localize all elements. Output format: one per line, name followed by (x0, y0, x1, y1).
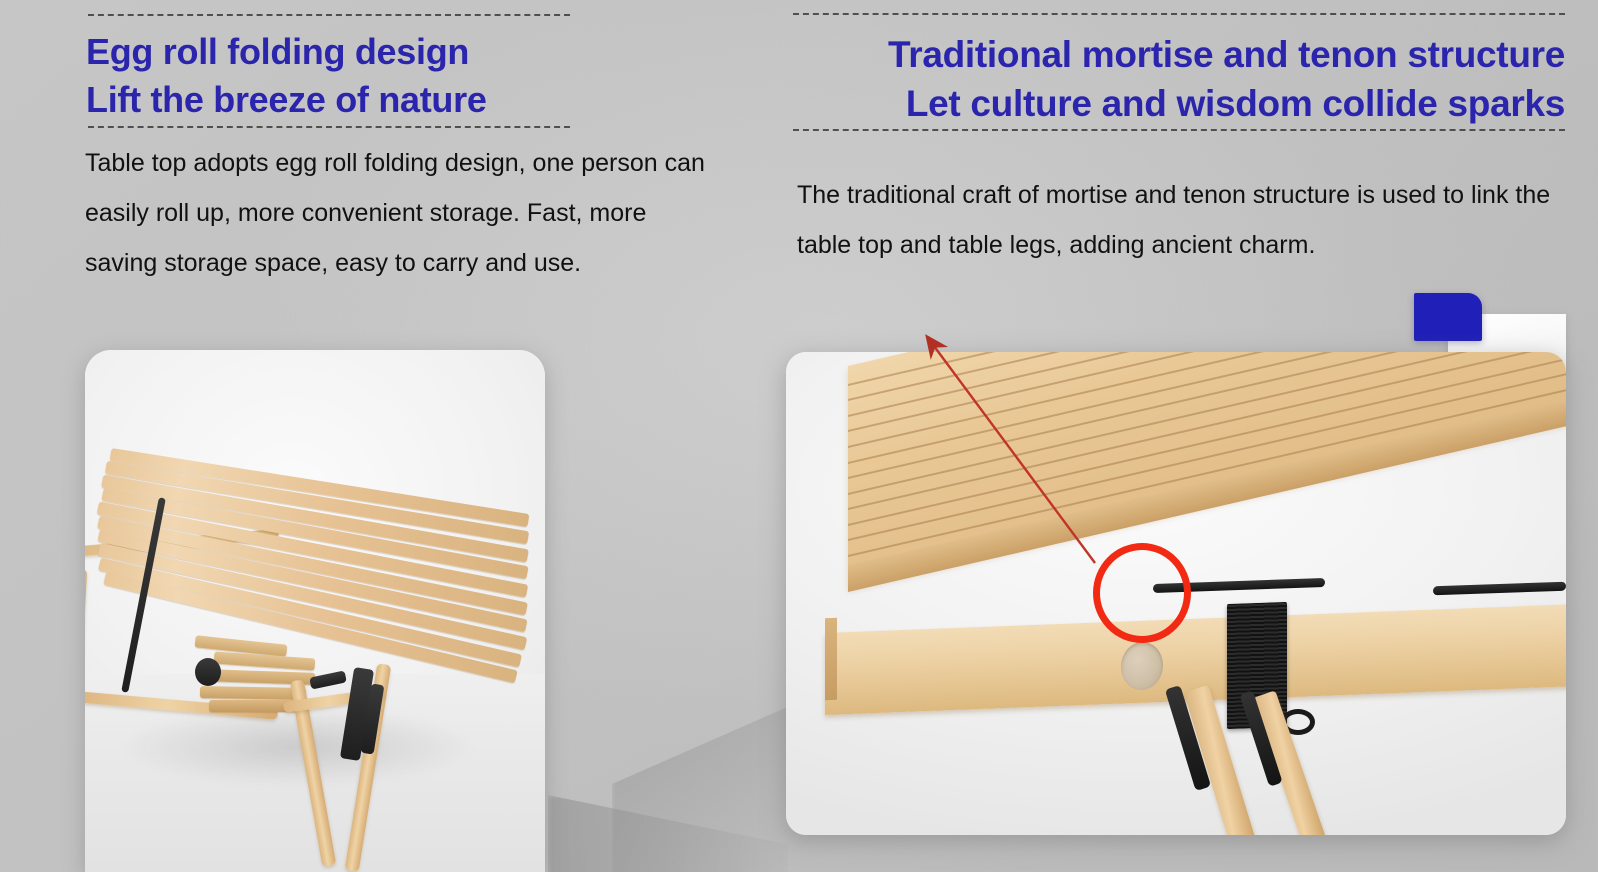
left-divider-top (88, 14, 570, 16)
blue-corner-tab (1414, 293, 1482, 341)
right-heading: Traditional mortise and tenon structure … (793, 30, 1565, 128)
slide-root: Egg roll folding design Lift the breeze … (0, 0, 1598, 872)
left-photo-table-illustration (85, 350, 545, 872)
left-heading: Egg roll folding design Lift the breeze … (86, 28, 487, 124)
left-body-text: Table top adopts egg roll folding design… (85, 138, 725, 288)
left-product-photo (85, 350, 545, 872)
right-image-alt: Close-up of bamboo table top slats joine… (0, 0, 1, 1)
background-shadow-wedge-lower (548, 795, 788, 872)
left-image-alt: Bamboo egg-roll table top partially roll… (0, 0, 1, 1)
right-product-photo (786, 352, 1566, 835)
right-divider-bottom (793, 129, 1565, 131)
right-divider-top (793, 13, 1565, 15)
left-divider-bottom (88, 126, 570, 128)
right-photo-beam-end-grain (825, 617, 837, 700)
right-body-text: The traditional craft of mortise and ten… (797, 170, 1557, 270)
